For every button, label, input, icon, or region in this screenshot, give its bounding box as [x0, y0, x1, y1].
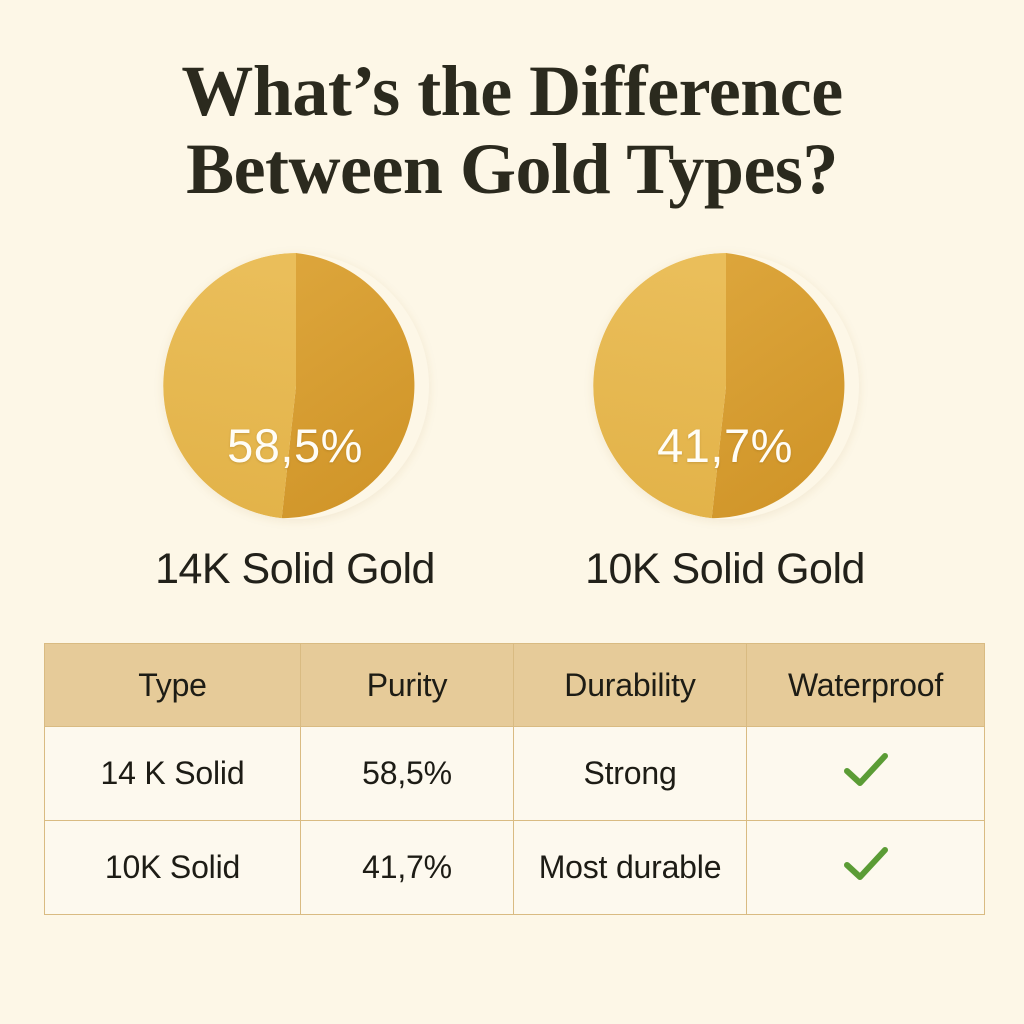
table-header: Type Purity Durability Waterproof [45, 644, 985, 727]
chart-10k-solid-gold: 41,7% 10K Solid Gold [575, 253, 875, 533]
pie-caption-14k: 14K Solid Gold [105, 545, 485, 594]
pie-chart-10k [593, 253, 859, 519]
column-header-purity: Purity [301, 644, 514, 727]
cell-purity-14k: 58,5% [301, 727, 514, 821]
column-header-waterproof: Waterproof [747, 644, 985, 727]
check-icon [844, 753, 888, 787]
pie-charts-row: 58,5% 14K Solid Gold [0, 253, 1024, 533]
column-header-durability: Durability [514, 644, 747, 727]
table-header-row: Type Purity Durability Waterproof [45, 644, 985, 727]
page-title: What’s the Difference Between Gold Types… [0, 52, 1024, 208]
cell-waterproof-14k [747, 727, 985, 821]
cell-type-10k: 10K Solid [45, 821, 301, 915]
gold-comparison-table: Type Purity Durability Waterproof 14 K S… [44, 643, 985, 915]
pie-caption-10k: 10K Solid Gold [535, 545, 915, 594]
page-title-line-1: What’s the Difference [0, 52, 1024, 130]
table-row: 14 K Solid 58,5% Strong [45, 727, 985, 821]
cell-durability-14k: Strong [514, 727, 747, 821]
cell-type-14k: 14 K Solid [45, 727, 301, 821]
pie-chart-14k [163, 253, 429, 519]
cell-durability-10k: Most durable [514, 821, 747, 915]
cell-waterproof-10k [747, 821, 985, 915]
pie-value-label-10k: 41,7% [575, 418, 875, 473]
page-title-line-2: Between Gold Types? [0, 130, 1024, 208]
cell-purity-10k: 41,7% [301, 821, 514, 915]
gold-types-infographic: What’s the Difference Between Gold Types… [0, 0, 1024, 1024]
pie-value-label-14k: 58,5% [145, 418, 445, 473]
table-row: 10K Solid 41,7% Most durable [45, 821, 985, 915]
check-icon [844, 847, 888, 881]
chart-14k-solid-gold: 58,5% 14K Solid Gold [145, 253, 445, 533]
table-body: 14 K Solid 58,5% Strong 10K Solid 41,7% … [45, 727, 985, 915]
column-header-type: Type [45, 644, 301, 727]
